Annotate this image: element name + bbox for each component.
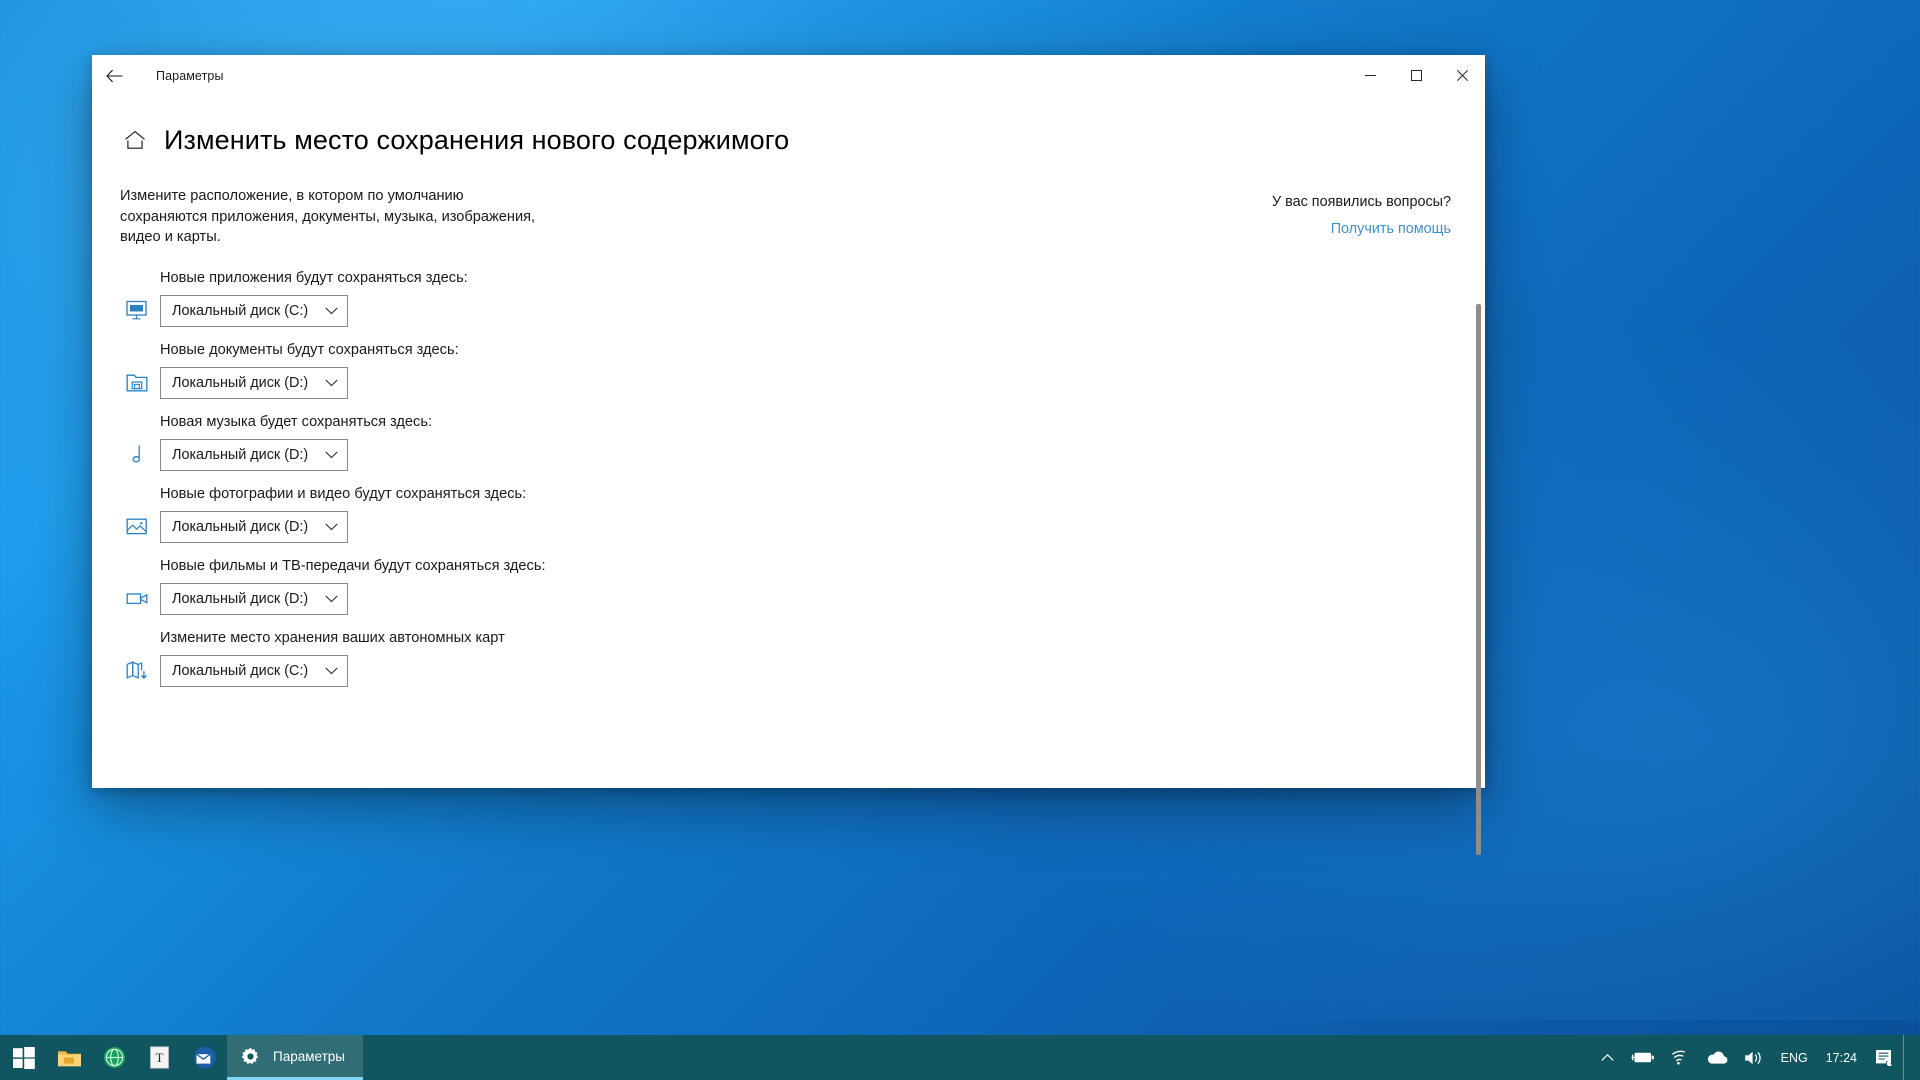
wifi-icon bbox=[1671, 1050, 1690, 1065]
chevron-down-icon bbox=[325, 379, 338, 387]
setting-row-apps: Новые приложения будут сохраняться здесь… bbox=[120, 270, 1180, 328]
setting-control-movies: Локальный диск (D:) bbox=[120, 582, 1180, 616]
intro-line-2: сохраняются приложения, документы, музык… bbox=[120, 207, 560, 228]
clock[interactable]: 17:24 bbox=[1816, 1051, 1867, 1065]
notification-center-button[interactable] bbox=[1867, 1035, 1903, 1080]
video-camera-icon bbox=[120, 582, 160, 616]
window-title: Параметры bbox=[156, 69, 224, 83]
photo-picture-icon bbox=[120, 510, 160, 544]
chevron-down-icon bbox=[325, 667, 338, 675]
page-content: Измените расположение, в котором по умол… bbox=[92, 186, 1485, 788]
setting-control-photos: Локальный диск (D:) bbox=[120, 510, 1180, 544]
home-icon bbox=[124, 130, 146, 150]
taskbar-apps: T Параметры bbox=[0, 1035, 363, 1080]
taskbar-item-settings-active[interactable]: Параметры bbox=[227, 1035, 363, 1080]
scrollbar-thumb[interactable] bbox=[1476, 304, 1481, 855]
location-dropdown-apps[interactable]: Локальный диск (C:) bbox=[160, 295, 348, 327]
speaker-volume-icon bbox=[1744, 1050, 1765, 1066]
start-button[interactable] bbox=[0, 1035, 47, 1080]
battery-charging-icon bbox=[1630, 1050, 1655, 1065]
location-dropdown-music[interactable]: Локальный диск (D:) bbox=[160, 439, 348, 471]
dropdown-value-movies: Локальный диск (D:) bbox=[172, 591, 308, 607]
setting-label-music: Новая музыка будет сохраняться здесь: bbox=[160, 414, 1180, 430]
back-arrow-icon bbox=[106, 69, 123, 83]
location-dropdown-movies[interactable]: Локальный диск (D:) bbox=[160, 583, 348, 615]
taskbar-item-browser[interactable] bbox=[92, 1035, 137, 1080]
network-button[interactable] bbox=[1663, 1035, 1698, 1080]
setting-row-documents: Новые документы будут сохраняться здесь:… bbox=[120, 342, 1180, 400]
system-tray: ENG 17:24 bbox=[1593, 1035, 1920, 1080]
settings-window: Параметры bbox=[92, 55, 1485, 788]
taskbar: T Параметры bbox=[0, 1035, 1920, 1080]
minimize-button[interactable] bbox=[1347, 55, 1393, 96]
volume-button[interactable] bbox=[1736, 1035, 1773, 1080]
settings-main-column: Измените расположение, в котором по умол… bbox=[120, 186, 1180, 788]
taskbar-active-label: Параметры bbox=[273, 1049, 345, 1064]
vertical-scrollbar[interactable] bbox=[1476, 304, 1481, 908]
dropdown-value-apps: Локальный диск (C:) bbox=[172, 303, 308, 319]
language-label: ENG bbox=[1781, 1051, 1808, 1065]
maximize-button[interactable] bbox=[1393, 55, 1439, 96]
window-caption-buttons bbox=[1347, 55, 1485, 96]
text-document-icon: T bbox=[149, 1046, 170, 1069]
browser-globe-icon bbox=[103, 1046, 126, 1069]
setting-control-maps: Локальный диск (C:) bbox=[120, 654, 1180, 688]
onedrive-button[interactable] bbox=[1698, 1035, 1736, 1080]
setting-row-photos: Новые фотографии и видео будут сохранять… bbox=[120, 486, 1180, 544]
chevron-down-icon bbox=[325, 451, 338, 459]
setting-control-music: Локальный диск (D:) bbox=[120, 438, 1180, 472]
setting-control-documents: Локальный диск (D:) bbox=[120, 366, 1180, 400]
window-titlebar: Параметры bbox=[92, 55, 1485, 96]
help-sidebar: У вас появились вопросы? Получить помощь bbox=[1180, 186, 1451, 788]
dropdown-value-music: Локальный диск (D:) bbox=[172, 447, 308, 463]
taskbar-item-file-explorer[interactable] bbox=[47, 1035, 92, 1080]
documents-folder-icon bbox=[120, 366, 160, 400]
setting-label-movies: Новые фильмы и ТВ-передачи будут сохраня… bbox=[160, 558, 1180, 574]
chevron-down-icon bbox=[325, 595, 338, 603]
dropdown-value-documents: Локальный диск (D:) bbox=[172, 375, 308, 391]
location-dropdown-photos[interactable]: Локальный диск (D:) bbox=[160, 511, 348, 543]
minimize-icon bbox=[1365, 70, 1376, 81]
battery-button[interactable] bbox=[1622, 1035, 1663, 1080]
setting-label-photos: Новые фотографии и видео будут сохранять… bbox=[160, 486, 1180, 502]
chevron-down-icon bbox=[325, 523, 338, 531]
intro-line-1: Измените расположение, в котором по умол… bbox=[120, 186, 560, 207]
setting-row-maps: Измените место хранения ваших автономных… bbox=[120, 630, 1180, 688]
onedrive-cloud-icon bbox=[1706, 1050, 1728, 1065]
intro-line-3: видео и карты. bbox=[120, 227, 560, 248]
page-title: Изменить место сохранения нового содержи… bbox=[164, 125, 789, 156]
tray-expand-button[interactable] bbox=[1593, 1035, 1622, 1080]
chevron-down-icon bbox=[325, 307, 338, 315]
close-icon bbox=[1457, 70, 1468, 81]
gear-icon bbox=[241, 1047, 260, 1066]
file-explorer-icon bbox=[57, 1047, 82, 1069]
chevron-up-icon bbox=[1601, 1053, 1614, 1062]
dropdown-value-photos: Локальный диск (D:) bbox=[172, 519, 308, 535]
back-button[interactable] bbox=[92, 55, 136, 96]
music-note-icon bbox=[120, 438, 160, 472]
desktop-app-icon bbox=[120, 294, 160, 328]
setting-label-documents: Новые документы будут сохраняться здесь: bbox=[160, 342, 1180, 358]
dropdown-value-maps: Локальный диск (C:) bbox=[172, 663, 308, 679]
svg-text:T: T bbox=[156, 1050, 164, 1065]
setting-label-apps: Новые приложения будут сохраняться здесь… bbox=[160, 270, 1180, 286]
setting-row-music: Новая музыка будет сохраняться здесь: Ло… bbox=[120, 414, 1180, 472]
location-dropdown-documents[interactable]: Локальный диск (D:) bbox=[160, 367, 348, 399]
home-button[interactable] bbox=[120, 130, 150, 150]
show-desktop-button[interactable] bbox=[1903, 1035, 1912, 1080]
intro-description: Измените расположение, в котором по умол… bbox=[120, 186, 560, 248]
settings-rows: Новые приложения будут сохраняться здесь… bbox=[120, 270, 1180, 688]
page-header: Изменить место сохранения нового содержи… bbox=[92, 116, 1485, 164]
close-button[interactable] bbox=[1439, 55, 1485, 96]
language-indicator[interactable]: ENG bbox=[1773, 1035, 1816, 1080]
maximize-icon bbox=[1411, 70, 1422, 81]
setting-control-apps: Локальный диск (C:) bbox=[120, 294, 1180, 328]
taskbar-item-mail[interactable] bbox=[182, 1035, 227, 1080]
windows-start-icon bbox=[13, 1047, 35, 1069]
notification-center-icon bbox=[1875, 1049, 1895, 1066]
help-heading: У вас появились вопросы? bbox=[1214, 194, 1451, 210]
mail-icon bbox=[193, 1046, 217, 1069]
setting-label-maps: Измените место хранения ваших автономных… bbox=[160, 630, 1180, 646]
setting-row-movies: Новые фильмы и ТВ-передачи будут сохраня… bbox=[120, 558, 1180, 616]
get-help-link[interactable]: Получить помощь bbox=[1214, 221, 1451, 237]
taskbar-item-text-editor[interactable]: T bbox=[137, 1035, 182, 1080]
offline-map-icon bbox=[120, 654, 160, 688]
location-dropdown-maps[interactable]: Локальный диск (C:) bbox=[160, 655, 348, 687]
